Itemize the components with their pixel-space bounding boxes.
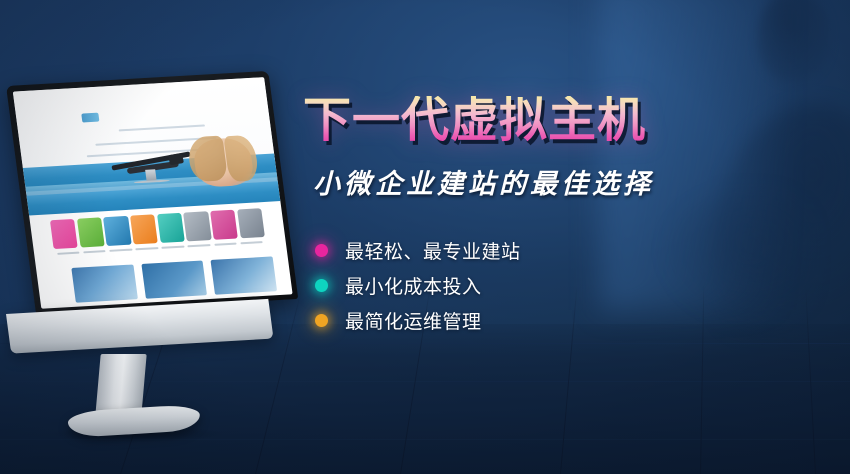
website-logo-icon (82, 113, 100, 123)
banner-text-block: 下一代虚拟主机 小微企业建站的最佳选择 最轻松、最专业建站 最小化成本投入 最简 (303, 96, 733, 338)
feature-list-item: 最简化运维管理 (306, 303, 733, 338)
imac-monitor (6, 86, 284, 416)
page-subtitle: 小微企业建站的最佳选择 (313, 162, 733, 201)
website-app-icon (103, 216, 131, 246)
website-icon-label (109, 249, 132, 252)
website-thumbnail (211, 256, 277, 294)
bullet-dot-icon (315, 244, 328, 257)
website-icon-label (83, 250, 106, 253)
bullet-dot-wrapper (306, 314, 336, 327)
website-icon-label (162, 246, 185, 249)
bullet-dot-icon (315, 314, 328, 327)
website-thumbnail-row (71, 256, 277, 302)
website-app-icon (157, 213, 185, 243)
page-title: 下一代虚拟主机 (303, 96, 733, 144)
website-airplane-graphic (105, 151, 199, 184)
website-icon-label (214, 243, 237, 246)
bullet-dot-icon (315, 279, 328, 292)
feature-list-item: 最轻松、最专业建站 (306, 233, 733, 268)
hero-banner: 下一代虚拟主机 小微企业建站的最佳选择 最轻松、最专业建站 最小化成本投入 最简 (0, 0, 850, 474)
monitor-screen (13, 77, 293, 309)
feature-label: 最小化成本投入 (345, 272, 482, 299)
feature-list-item: 最小化成本投入 (306, 268, 733, 303)
website-app-icon (237, 209, 265, 239)
website-app-icon (50, 219, 78, 249)
website-icon-label (240, 241, 263, 244)
bullet-dot-wrapper (306, 244, 336, 257)
monitor-head (6, 71, 298, 314)
feature-label: 最轻松、最专业建站 (345, 237, 521, 264)
website-thumbnail (141, 260, 207, 298)
website-app-icon (183, 212, 211, 242)
feature-list: 最轻松、最专业建站 最小化成本投入 最简化运维管理 (306, 233, 733, 338)
website-app-icon (77, 218, 105, 248)
website-app-icon (130, 215, 158, 245)
website-icon-label (57, 252, 80, 255)
website-icon-label (135, 247, 158, 250)
website-icon-label (188, 244, 211, 247)
airplane-tail (168, 153, 184, 165)
feature-label: 最简化运维管理 (345, 307, 482, 334)
silhouette-head (758, 0, 830, 82)
website-thumbnail (71, 264, 137, 302)
website-app-icon (210, 210, 238, 240)
bullet-dot-wrapper (306, 279, 336, 292)
